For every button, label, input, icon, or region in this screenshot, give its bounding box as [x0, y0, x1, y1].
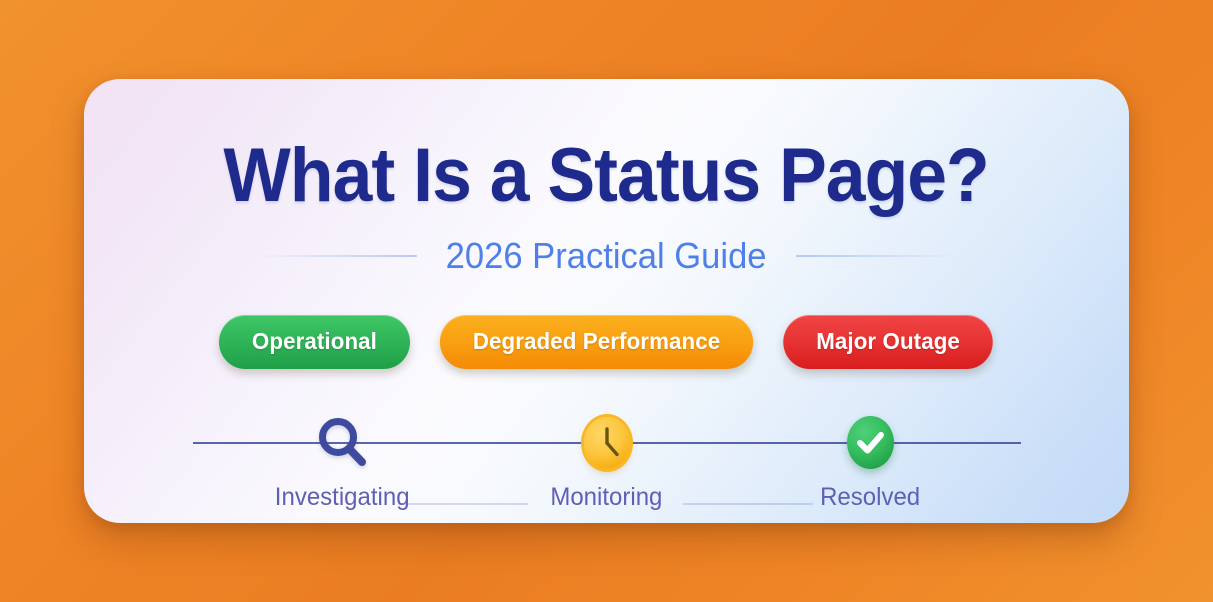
clock-icon: [575, 411, 639, 475]
timeline-label-rule-2: [683, 503, 813, 505]
subtitle-row: 2026 Practical Guide: [257, 235, 957, 277]
status-badge-degraded-performance[interactable]: Degraded Performance: [440, 315, 753, 369]
status-badge-operational[interactable]: Operational: [219, 315, 410, 369]
timeline-steps: Investigating Monitoring: [193, 411, 1021, 512]
timeline-step-label-resolved: Resolved: [820, 483, 920, 512]
card-content: What Is a Status Page? 2026 Practical Gu…: [84, 79, 1129, 523]
page-title: What Is a Status Page?: [224, 137, 989, 215]
page-subtitle: 2026 Practical Guide: [446, 235, 767, 277]
timeline-step-resolved[interactable]: Resolved: [781, 411, 961, 512]
subtitle-rule-left: [257, 255, 418, 257]
status-badge-group: Operational Degraded Performance Major O…: [216, 315, 996, 369]
check-circle-icon: [839, 411, 903, 475]
status-page-hero-card: What Is a Status Page? 2026 Practical Gu…: [84, 79, 1129, 523]
timeline-step-monitoring[interactable]: Monitoring: [517, 411, 697, 512]
timeline-step-investigating[interactable]: Investigating: [253, 411, 433, 512]
timeline-step-label-investigating: Investigating: [275, 483, 410, 512]
status-badge-major-outage[interactable]: Major Outage: [784, 315, 994, 369]
magnifying-glass-icon: [311, 411, 375, 475]
incident-timeline: Investigating Monitoring: [193, 411, 1021, 512]
subtitle-rule-right: [796, 255, 957, 257]
timeline-label-rule-1: [398, 503, 528, 505]
timeline-step-label-monitoring: Monitoring: [550, 483, 662, 512]
